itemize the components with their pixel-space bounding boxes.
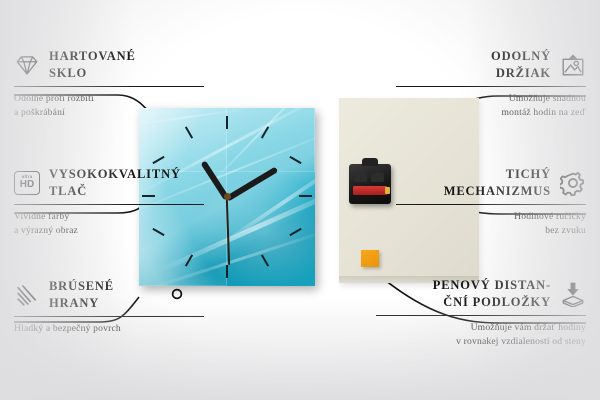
- desc-line-1: Hladký a bezpečný povrch: [14, 323, 121, 334]
- feature-description: Hodinové ručičky bez zvuku: [396, 210, 586, 237]
- diamond-icon: [14, 52, 40, 78]
- ultra-hd-icon: ultra HD: [14, 171, 40, 195]
- feature-title: PENOVÝ DISTAN- ČNÍ PODLOŽKY: [433, 277, 551, 310]
- feature-title: ODOLNÝ DRŽIAK: [491, 48, 551, 81]
- badge-hd-label: HD: [20, 180, 34, 190]
- feature-durable-hanger[interactable]: ODOLNÝ DRŽIAK Umožňuje snadnou montáž ho…: [396, 48, 586, 119]
- title-line-2: ČNÍ PODLOŽKY: [443, 295, 551, 309]
- feature-title: HARTOVANÉ SKLO: [49, 48, 136, 81]
- feature-description: Odolné proti rozbití a poškrábání: [14, 92, 204, 119]
- feature-high-quality-print[interactable]: ultra HD VYSOKOKVALITNÝ TLAČ Vividné far…: [14, 166, 204, 237]
- hand-center-cap: [224, 193, 231, 200]
- desc-line-1: Vividné farby: [14, 211, 69, 222]
- feature-title: BRÚSENÉ HRANY: [49, 278, 114, 311]
- feature-description: Vividné farby a výrazný obraz: [14, 210, 204, 237]
- hour-marker-4: [289, 228, 301, 236]
- feature-polished-edges[interactable]: BRÚSENÉ HRANY Hladký a bezpečný povrch: [14, 278, 204, 336]
- feature-heading: BRÚSENÉ HRANY: [14, 278, 204, 311]
- desc-line-1: Hodinové ručičky: [514, 211, 586, 222]
- title-line-2: MECHANIZMUS: [444, 184, 551, 198]
- foam-pad-icon: [560, 281, 586, 307]
- title-line-2: HRANY: [49, 296, 99, 310]
- feature-description: Umožňuje vám držať hodiny v rovnakej vzd…: [376, 321, 586, 348]
- battery-terminal: [385, 187, 390, 194]
- polished-edges-icon: [14, 282, 40, 308]
- title-line-2: TLAČ: [49, 184, 87, 198]
- desc-line-2: a poškrábání: [14, 107, 65, 118]
- feature-heading: HARTOVANÉ SKLO: [14, 48, 204, 81]
- desc-line-1: Umožňuje snadnou: [509, 93, 586, 104]
- title-line-1: VYSOKOKVALITNÝ: [49, 167, 181, 181]
- title-line-1: BRÚSENÉ: [49, 279, 114, 293]
- glass-pane-reflection: [227, 108, 315, 172]
- desc-line-2: bez zvuku: [545, 225, 586, 236]
- feature-title: VYSOKOKVALITNÝ TLAČ: [49, 166, 181, 199]
- hour-marker-12: [226, 116, 228, 129]
- battery: [353, 186, 387, 195]
- title-line-1: PENOVÝ DISTAN-: [433, 278, 551, 292]
- title-line-2: SKLO: [49, 66, 87, 80]
- desc-line-2: a výrazný obraz: [14, 225, 78, 236]
- feature-divider: [396, 86, 586, 87]
- feature-divider: [14, 86, 204, 87]
- gear-icon: [560, 170, 586, 196]
- feature-divider: [396, 204, 586, 205]
- feature-divider: [14, 204, 204, 205]
- desc-line-1: Odolné proti rozbití: [14, 93, 94, 104]
- title-line-2: DRŽIAK: [496, 66, 551, 80]
- hour-marker-3: [299, 195, 312, 197]
- hour-marker-5: [261, 254, 269, 266]
- feature-divider: [14, 316, 204, 317]
- infographic-canvas: HARTOVANÉ SKLO Odolné proti rozbití a po…: [0, 0, 600, 400]
- hanger-loop: [362, 158, 378, 166]
- movement-slot: [354, 173, 367, 182]
- feature-description: Umožňuje snadnou montáž hodin na zeď: [396, 92, 586, 119]
- foam-spacer-pad: [361, 250, 379, 267]
- movement-slot: [371, 173, 384, 182]
- feature-title: TICHÝ MECHANIZMUS: [444, 166, 551, 199]
- desc-line-2: montáž hodin na zeď: [502, 107, 586, 118]
- feature-divider: [376, 315, 586, 316]
- desc-line-2: v rovnakej vzdialenosti od steny: [456, 336, 586, 347]
- feature-heading: ODOLNÝ DRŽIAK: [396, 48, 586, 81]
- title-line-1: HARTOVANÉ: [49, 49, 136, 63]
- title-line-1: ODOLNÝ: [491, 49, 551, 63]
- feature-heading: PENOVÝ DISTAN- ČNÍ PODLOŽKY: [376, 277, 586, 310]
- desc-line-1: Umožňuje vám držať hodiny: [471, 322, 586, 333]
- feature-tempered-glass[interactable]: HARTOVANÉ SKLO Odolné proti rozbití a po…: [14, 48, 204, 119]
- title-line-1: TICHÝ: [506, 167, 551, 181]
- clock-movement: [349, 164, 391, 204]
- feature-silent-mechanism[interactable]: TICHÝ MECHANIZMUS Hodinové ručičky bez z…: [396, 166, 586, 237]
- hour-marker-6: [226, 265, 228, 278]
- picture-hanger-icon: [560, 52, 586, 78]
- feature-foam-spacers[interactable]: PENOVÝ DISTAN- ČNÍ PODLOŽKY Umožňuje vám…: [376, 277, 586, 348]
- feature-heading: TICHÝ MECHANIZMUS: [396, 166, 586, 199]
- feature-description: Hladký a bezpečný povrch: [14, 322, 204, 336]
- feature-heading: ultra HD VYSOKOKVALITNÝ TLAČ: [14, 166, 204, 199]
